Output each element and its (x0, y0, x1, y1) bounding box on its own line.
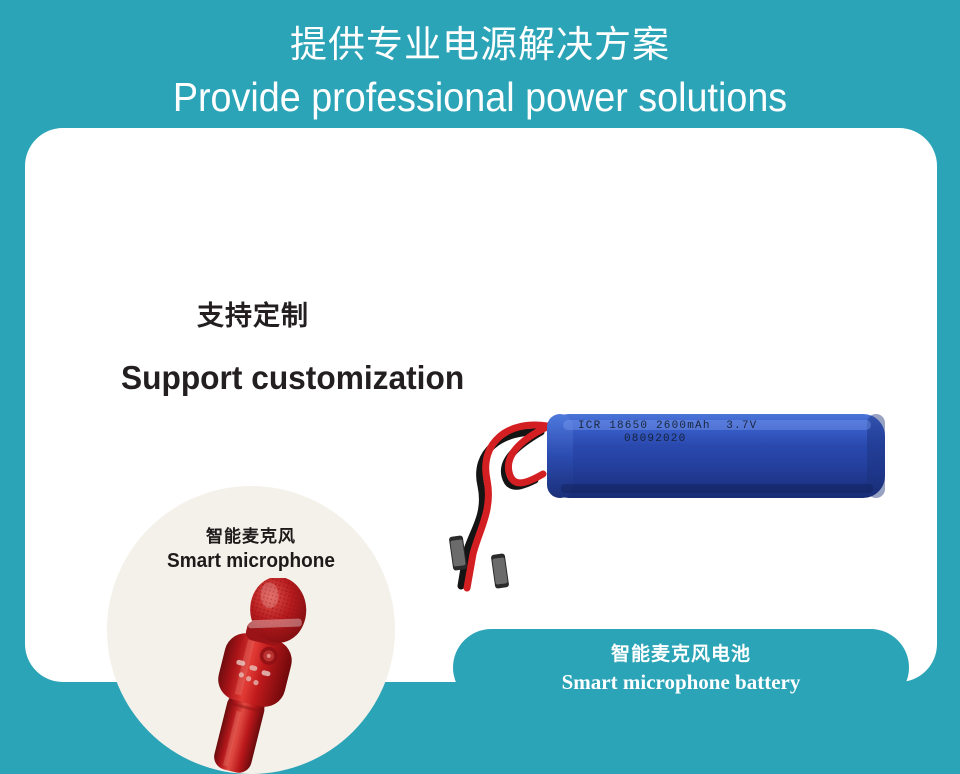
microphone-showcase-circle: 智能麦克风 Smart microphone (107, 486, 395, 774)
header-title-cn: 提供专业电源解决方案 (0, 22, 960, 68)
header-title-en: Provide professional power solutions (38, 72, 921, 122)
microphone-icon (179, 578, 329, 774)
promo-banner: 提供专业电源解决方案 Provide professional power so… (0, 0, 960, 710)
microphone-label-en: Smart microphone (114, 548, 388, 574)
banner-header: 提供专业电源解决方案 Provide professional power so… (0, 0, 960, 128)
content-card: 支持定制 Support customization 智能麦克风 Smart m… (25, 128, 937, 682)
microphone-label-cn: 智能麦克风 (107, 526, 395, 548)
support-heading-cn: 支持定制 (197, 298, 309, 334)
battery-caption-pill: 智能麦克风电池 Smart microphone battery (453, 629, 909, 706)
caption-title-cn: 智能麦克风电池 (453, 642, 909, 668)
caption-title-en: Smart microphone battery (453, 668, 909, 696)
battery-cell-icon (443, 390, 933, 605)
support-heading-en: Support customization (121, 356, 464, 400)
